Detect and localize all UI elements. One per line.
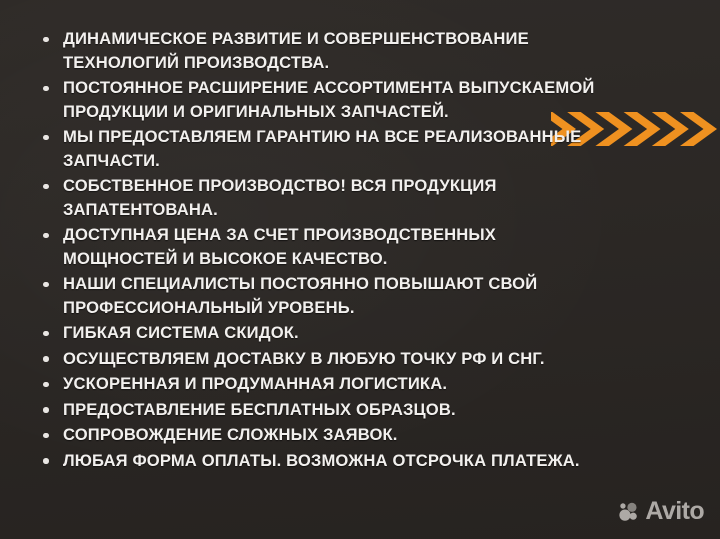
list-item: Доступная цена за счет производственных …: [38, 223, 598, 270]
list-item: Гибкая система скидок.: [38, 321, 598, 345]
list-item: Ускоренная и продуманная логистика.: [38, 372, 598, 396]
list-item: Мы предоставляем гарантию на все реализо…: [38, 125, 598, 172]
list-item: Наши специалисты постоянно повышают свой…: [38, 272, 598, 319]
bullet-point-icon: [43, 331, 49, 337]
benefit-text: Собственное производство! Вся продукция …: [63, 176, 497, 219]
benefit-text: Предоставление бесплатных образцов.: [63, 400, 456, 419]
list-item: Любая форма оплаты. Возможна отсрочка пл…: [38, 449, 598, 473]
bullet-point-icon: [43, 86, 49, 92]
benefit-text: Сопровождение сложных заявок.: [63, 425, 398, 444]
advertising-banner: Динамическое развитие и совершенствовани…: [0, 0, 720, 539]
bullet-point-icon: [43, 433, 49, 439]
bullet-point-icon: [43, 37, 49, 43]
benefit-text: Мы предоставляем гарантию на все реализо…: [63, 127, 581, 170]
bullet-point-icon: [43, 356, 49, 362]
benefit-text: Любая форма оплаты. Возможна отсрочка пл…: [63, 451, 580, 470]
benefit-text: Осуществляем доставку в любую точку РФ и…: [63, 349, 545, 368]
avito-dots-logo-icon: [618, 501, 640, 523]
benefit-text: Наши специалисты постоянно повышают свой…: [63, 274, 537, 317]
avito-watermark: Avito: [618, 499, 704, 524]
list-item: Постоянное расширение ассортимента выпус…: [38, 76, 598, 123]
avito-wordmark: Avito: [645, 499, 704, 524]
benefit-text: Доступная цена за счет производственных …: [63, 225, 496, 268]
benefit-text: Гибкая система скидок.: [63, 323, 299, 342]
benefit-text: Ускоренная и продуманная логистика.: [63, 374, 447, 393]
benefits-list: Динамическое развитие и совершенствовани…: [38, 27, 598, 474]
bullet-point-icon: [43, 382, 49, 388]
benefit-text: Постоянное расширение ассортимента выпус…: [63, 78, 594, 121]
benefit-text: Динамическое развитие и совершенствовани…: [63, 29, 529, 72]
list-item: Динамическое развитие и совершенствовани…: [38, 27, 598, 74]
list-item: Осуществляем доставку в любую точку РФ и…: [38, 347, 598, 371]
bullet-point-icon: [43, 184, 49, 190]
bullet-point-icon: [43, 458, 49, 464]
list-item: Предоставление бесплатных образцов.: [38, 398, 598, 422]
bullet-point-icon: [43, 407, 49, 413]
list-item: Собственное производство! Вся продукция …: [38, 174, 598, 221]
bullet-point-icon: [43, 233, 49, 239]
list-item: Сопровождение сложных заявок.: [38, 423, 598, 447]
bullet-point-icon: [43, 135, 49, 141]
bullet-point-icon: [43, 282, 49, 288]
